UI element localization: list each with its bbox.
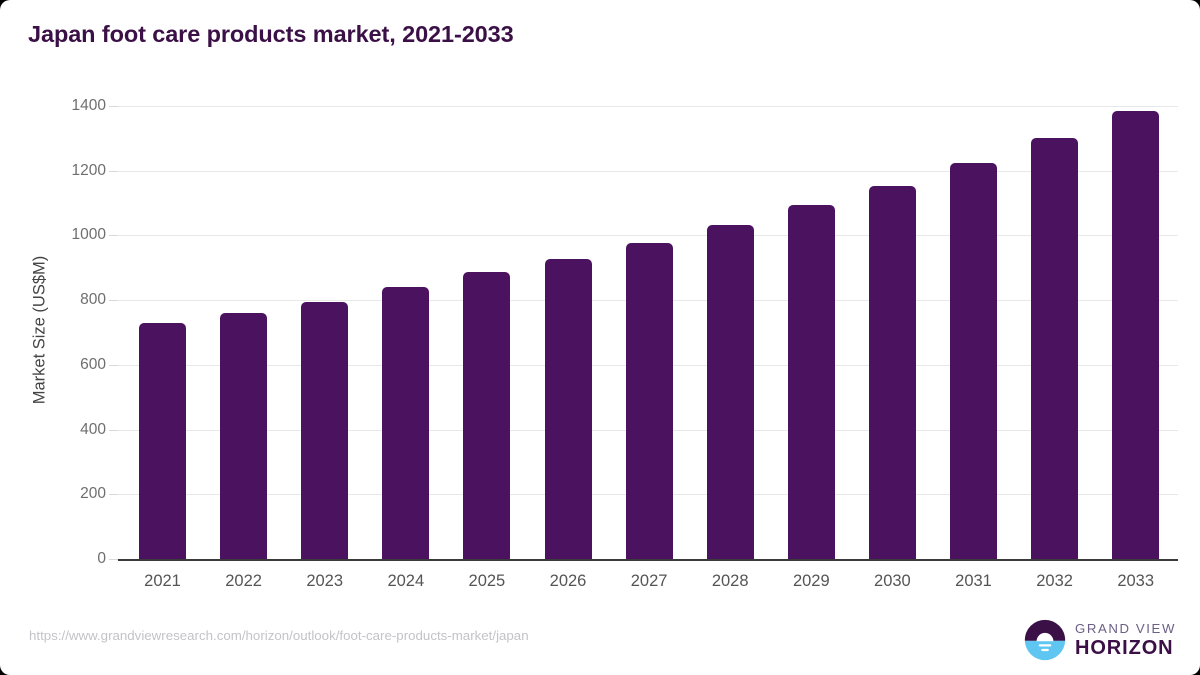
gridline bbox=[118, 235, 1178, 236]
x-tick-label: 2032 bbox=[1010, 572, 1100, 591]
bar-chart-plot-area: Market Size (US$M) 020040060080010001200… bbox=[118, 100, 1178, 560]
y-tick-label: 200 bbox=[16, 485, 106, 503]
bar[interactable] bbox=[220, 313, 267, 559]
bar[interactable] bbox=[626, 243, 673, 559]
x-tick-label: 2029 bbox=[766, 572, 856, 591]
gridline bbox=[118, 171, 1178, 172]
y-tick-label: 1400 bbox=[16, 97, 106, 115]
y-tick-mark bbox=[109, 106, 118, 107]
y-tick-label: 800 bbox=[16, 291, 106, 309]
y-tick-label: 1200 bbox=[16, 162, 106, 180]
logo-top-text: GRAND VIEW bbox=[1075, 622, 1176, 635]
x-tick-label: 2022 bbox=[199, 572, 289, 591]
y-tick-label: 0 bbox=[16, 550, 106, 568]
x-tick-label: 2030 bbox=[847, 572, 937, 591]
bar[interactable] bbox=[869, 186, 916, 559]
y-tick-label: 600 bbox=[16, 356, 106, 374]
bar[interactable] bbox=[1031, 138, 1078, 559]
y-tick-mark bbox=[109, 171, 118, 172]
x-tick-label: 2021 bbox=[118, 572, 208, 591]
bar[interactable] bbox=[545, 259, 592, 559]
horizon-sun-icon bbox=[1024, 619, 1066, 661]
x-tick-label: 2028 bbox=[685, 572, 775, 591]
x-tick-label: 2027 bbox=[604, 572, 694, 591]
source-url[interactable]: https://www.grandviewresearch.com/horizo… bbox=[29, 628, 529, 643]
y-tick-label: 400 bbox=[16, 421, 106, 439]
grand-view-horizon-logo[interactable]: GRAND VIEW HORIZON bbox=[1024, 618, 1176, 662]
bar[interactable] bbox=[139, 323, 186, 559]
page-title: Japan foot care products market, 2021-20… bbox=[28, 21, 514, 48]
x-tick-label: 2025 bbox=[442, 572, 532, 591]
y-tick-mark bbox=[109, 559, 118, 560]
x-tick-label: 2023 bbox=[280, 572, 370, 591]
logo-bottom-text: HORIZON bbox=[1075, 638, 1176, 658]
chart-card: Japan foot care products market, 2021-20… bbox=[0, 0, 1200, 675]
y-tick-mark bbox=[109, 494, 118, 495]
bar[interactable] bbox=[382, 287, 429, 559]
gridline bbox=[118, 106, 1178, 107]
y-tick-mark bbox=[109, 235, 118, 236]
logo-wordmark: GRAND VIEW HORIZON bbox=[1075, 622, 1176, 658]
y-tick-mark bbox=[109, 365, 118, 366]
y-tick-label: 1000 bbox=[16, 226, 106, 244]
bar[interactable] bbox=[788, 205, 835, 559]
y-tick-mark bbox=[109, 430, 118, 431]
bar[interactable] bbox=[301, 302, 348, 559]
bar[interactable] bbox=[1112, 111, 1159, 559]
bar[interactable] bbox=[463, 272, 510, 559]
x-tick-label: 2033 bbox=[1091, 572, 1181, 591]
x-tick-label: 2026 bbox=[523, 572, 613, 591]
bar[interactable] bbox=[950, 163, 997, 559]
bar[interactable] bbox=[707, 225, 754, 559]
x-tick-label: 2024 bbox=[361, 572, 451, 591]
y-axis-label: Market Size (US$M) bbox=[31, 256, 50, 405]
x-axis-line bbox=[118, 559, 1178, 561]
x-tick-label: 2031 bbox=[929, 572, 1019, 591]
y-tick-mark bbox=[109, 300, 118, 301]
